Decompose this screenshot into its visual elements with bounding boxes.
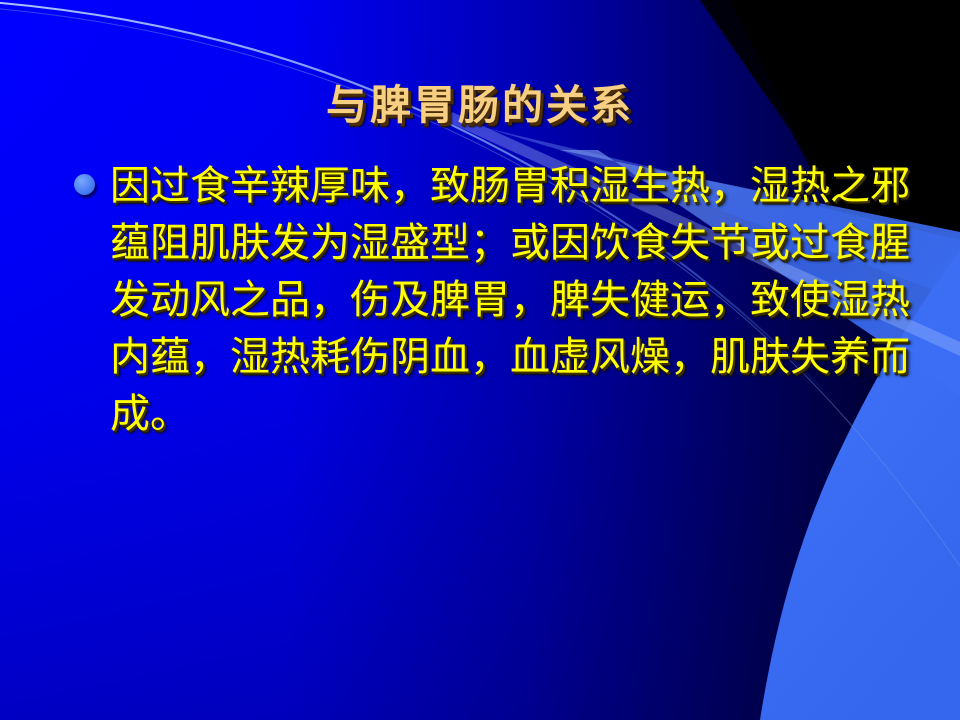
slide-body-block: 因过食辛辣厚味，致肠胃积湿生热，湿热之邪蕴阻肌肤发为湿盛型；或因饮食失节或过食腥… bbox=[74, 158, 944, 443]
presentation-slide: 与脾胃肠的关系 因过食辛辣厚味，致肠胃积湿生热，湿热之邪蕴阻肌肤发为湿盛型；或因… bbox=[0, 0, 960, 720]
body-paragraph: 因过食辛辣厚味，致肠胃积湿生热，湿热之邪蕴阻肌肤发为湿盛型；或因饮食失节或过食腥… bbox=[110, 158, 944, 443]
page-title: 与脾胃肠的关系 bbox=[326, 82, 634, 129]
bullet-dot-icon bbox=[74, 174, 95, 195]
slide-title-block: 与脾胃肠的关系 bbox=[0, 82, 960, 129]
bullet-marker bbox=[74, 158, 110, 195]
